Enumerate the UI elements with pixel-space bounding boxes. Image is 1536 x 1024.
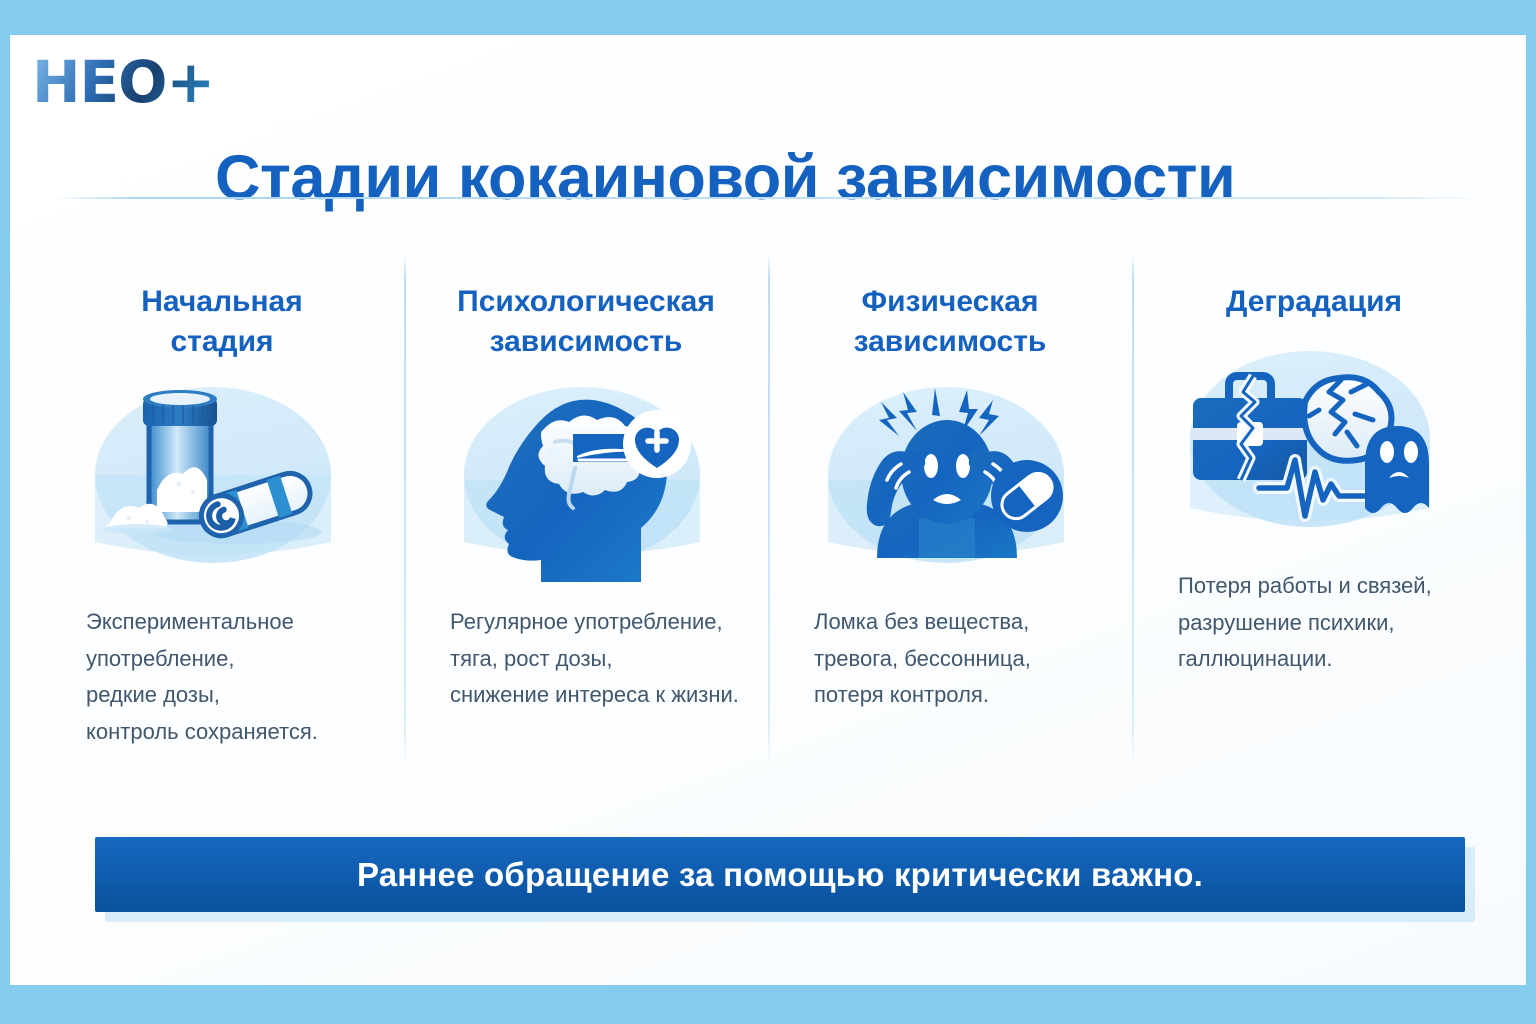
broken-briefcase-cracked-brain-ghost-icon (1154, 332, 1474, 550)
stage-body-line: контроль сохраняется. (86, 714, 382, 751)
stage-body-line: галлюцинации. (1178, 641, 1474, 678)
stage-title-line-1: Деградация (1226, 285, 1402, 318)
content-canvas: НЕО+ Стадии кокаиновой зависимости Начал… (10, 35, 1526, 985)
callout-banner-text: Раннее обращение за помощью критически в… (357, 856, 1203, 894)
stage-body-line: тяга, рост дозы, (450, 641, 746, 678)
frame-top-bar (0, 0, 1536, 35)
powder-jar-and-rolled-note-icon (62, 368, 382, 586)
stage-title-4: Деградация (1154, 240, 1474, 326)
stage-title-2: Психологическая зависимость (426, 240, 746, 362)
head-brain-heart-plus-icon (426, 368, 746, 586)
frame-right-bar (1526, 35, 1536, 985)
distressed-person-headache-pill-icon (790, 368, 1110, 586)
stage-title-1: Начальная стадия (62, 240, 382, 362)
frame-bottom-bar (0, 985, 1536, 1024)
stage-body-3: Ломка без вещества, тревога, бессонница,… (790, 604, 1110, 714)
stage-title-line-1: Психологическая (457, 285, 715, 318)
stage-title-line-1: Начальная (141, 285, 303, 318)
stage-body-line: Ломка без вещества, (814, 604, 1110, 641)
stage-body-line: тревога, бессонница, (814, 641, 1110, 678)
infographic-page: НЕО+ Стадии кокаиновой зависимости Начал… (0, 0, 1536, 1024)
stage-title-line-1: Физическая (862, 285, 1039, 318)
callout-banner: Раннее обращение за помощью критически в… (95, 837, 1465, 912)
brand-logo-plus-icon: + (166, 48, 214, 116)
stage-title-line-2: зависимость (490, 325, 683, 358)
stage-column-4: Деградация (1132, 240, 1496, 780)
stage-body-line: разрушение психики, (1178, 605, 1474, 642)
stage-title-3: Физическая зависимость (790, 240, 1110, 362)
stage-body-line: редкие дозы, (86, 677, 382, 714)
page-title: Стадии кокаиновой зависимости (215, 145, 1315, 211)
stage-body-line: Экспериментальное (86, 604, 382, 641)
stage-body-line: потеря контроля. (814, 677, 1110, 714)
title-divider (55, 197, 1480, 199)
stage-body-2: Регулярное употребление, тяга, рост дозы… (426, 604, 746, 714)
stage-body-line: снижение интереса к жизни. (450, 677, 746, 714)
stage-column-2: Психологическая зависимость (404, 240, 768, 780)
stages-columns: Начальная стадия (40, 240, 1496, 780)
stage-title-line-2: стадия (170, 325, 273, 358)
stage-title-line-2: зависимость (854, 325, 1047, 358)
stage-body-line: Потеря работы и связей, (1178, 568, 1474, 605)
stage-column-1: Начальная стадия (40, 240, 404, 780)
stage-body-line: употребление, (86, 641, 382, 678)
stage-body-4: Потеря работы и связей, разрушение психи… (1154, 568, 1474, 678)
stage-body-line: Регулярное употребление, (450, 604, 746, 641)
frame-left-bar (0, 35, 10, 985)
stage-column-3: Физическая зависимость (768, 240, 1132, 780)
brand-logo: НЕО+ (32, 53, 214, 111)
stage-body-1: Экспериментальное употребление, редкие д… (62, 604, 382, 750)
brand-logo-text: НЕО (32, 48, 166, 116)
